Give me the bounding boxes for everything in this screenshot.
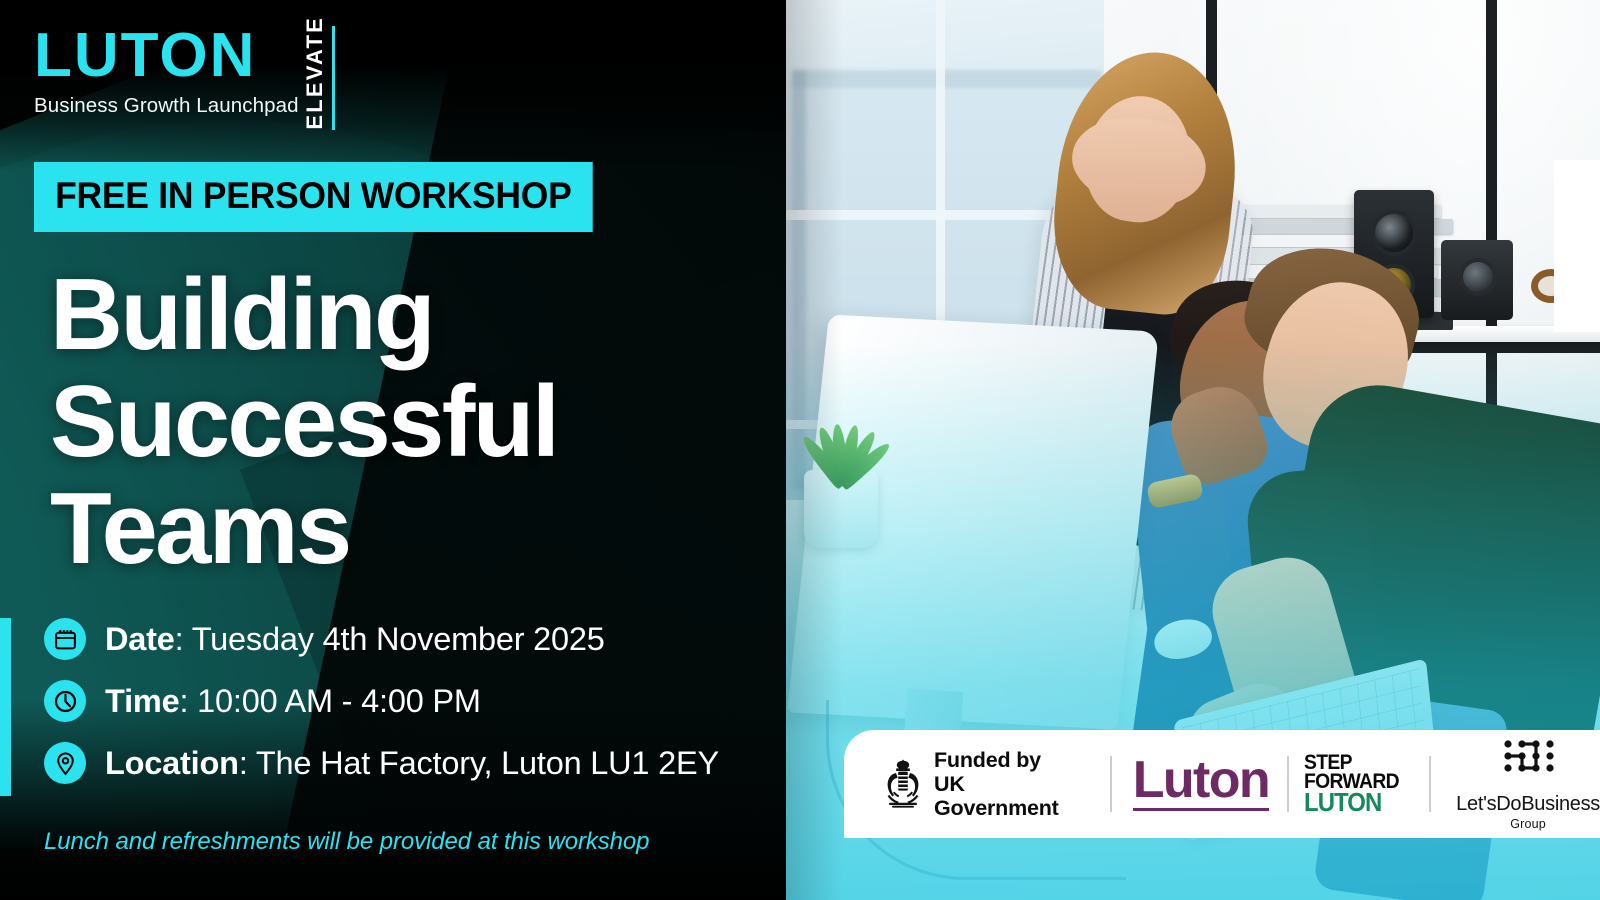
detail-colon-location: :	[239, 745, 256, 781]
page-title: Building Successful Teams	[50, 262, 750, 583]
logo-elevate-block: ELEVATE	[304, 26, 335, 130]
lunch-note: Lunch and refreshments will be provided …	[44, 828, 649, 856]
detail-value-time: 10:00 AM - 4:00 PM	[197, 683, 481, 719]
logo-text-block: LUTON Business Growth Launchpad	[34, 26, 299, 118]
step-forward-luton-logo: STEP FORWARD LUTON	[1304, 753, 1407, 816]
location-pin-icon	[44, 742, 86, 784]
logo-wordmark: LUTON	[34, 26, 299, 87]
event-details-list: Date: Tuesday 4th November 2025 Time: 10…	[44, 618, 784, 804]
detail-row-date: Date: Tuesday 4th November 2025	[44, 618, 784, 660]
dot-grid-icon	[1502, 738, 1554, 787]
free-workshop-badge: FREE IN PERSON WORKSHOP	[34, 162, 593, 232]
detail-label-date: Date	[105, 621, 175, 657]
logo-elevate-text: ELEVATE	[304, 16, 326, 130]
calendar-icon	[44, 618, 86, 660]
detail-label-location: Location	[105, 745, 239, 781]
uk-government-crest-icon	[882, 758, 924, 810]
detail-colon-date: :	[175, 621, 192, 657]
lets-do-business-sub: Group	[1510, 817, 1546, 831]
left-accent-bar	[0, 618, 11, 796]
luton-underline	[1133, 808, 1269, 811]
promo-poster: LUTON Business Growth Launchpad ELEVATE …	[0, 0, 1600, 900]
logo-divider-line	[332, 26, 335, 130]
camera-lens-upper	[1371, 210, 1417, 256]
detail-value-date: Tuesday 4th November 2025	[192, 621, 605, 657]
lets-do-business-logo: Let'sDoBusiness Group	[1456, 738, 1600, 831]
lets-do-business-name: Let'sDoBusiness	[1456, 793, 1600, 816]
detail-label-time: Time	[105, 683, 179, 719]
detail-text-location: Location: The Hat Factory, Luton LU1 2EY	[105, 745, 719, 782]
detail-row-time: Time: 10:00 AM - 4:00 PM	[44, 680, 784, 722]
left-content-panel: LUTON Business Growth Launchpad ELEVATE …	[0, 0, 786, 900]
funded-by-uk-government-logo: Funded by UK Government	[882, 748, 1088, 820]
luton-council-logo: Luton	[1133, 757, 1269, 811]
funded-by-line-1: Funded by	[934, 748, 1088, 772]
funded-by-text: Funded by UK Government	[934, 748, 1088, 820]
second-camera	[1441, 240, 1513, 320]
headline-line-2: Successful	[50, 369, 750, 476]
step-forward-line-3: LUTON	[1304, 791, 1399, 815]
luton-wordmark: Luton	[1133, 757, 1269, 805]
detail-colon-time: :	[179, 683, 197, 719]
logo-separator-1	[1110, 756, 1112, 812]
funded-by-line-2: UK Government	[934, 772, 1088, 820]
funder-logo-band: Funded by UK Government Luton STEP FORWA…	[844, 730, 1600, 838]
headline-line-1: Building	[50, 262, 750, 369]
headline-line-3: Teams	[50, 476, 750, 583]
right-edge-white-block	[1554, 160, 1600, 332]
detail-text-date: Date: Tuesday 4th November 2025	[105, 621, 605, 658]
detail-text-time: Time: 10:00 AM - 4:00 PM	[105, 683, 481, 720]
logo-separator-2	[1287, 756, 1289, 812]
luton-elevate-logo: LUTON Business Growth Launchpad ELEVATE	[34, 26, 335, 130]
camera-lens	[1459, 258, 1497, 296]
logo-tagline: Business Growth Launchpad	[34, 94, 299, 118]
clock-icon	[44, 680, 86, 722]
detail-value-location: The Hat Factory, Luton LU1 2EY	[256, 745, 719, 781]
detail-row-location: Location: The Hat Factory, Luton LU1 2EY	[44, 742, 784, 784]
logo-separator-3	[1429, 756, 1431, 812]
succulent-plant	[800, 400, 884, 486]
